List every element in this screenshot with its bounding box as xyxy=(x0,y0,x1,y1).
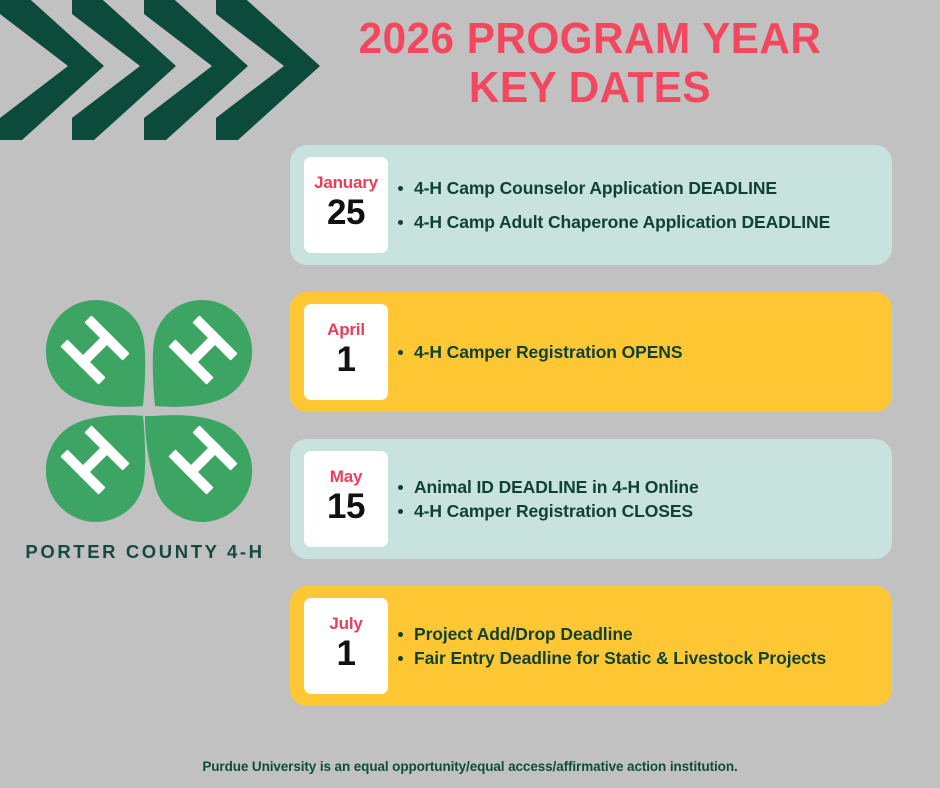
date-chip: January 25 xyxy=(304,157,388,253)
date-day: 1 xyxy=(337,636,356,673)
date-chip: April 1 xyxy=(304,304,388,400)
date-month: January xyxy=(314,174,378,193)
date-card: May 15 Animal ID DEADLINE in 4-H Online … xyxy=(290,439,892,559)
key-dates-card-list: January 25 4-H Camp Counselor Applicatio… xyxy=(290,145,892,733)
list-item: Project Add/Drop Deadline xyxy=(414,623,872,645)
page-title: 2026 PROGRAM YEAR KEY DATES xyxy=(312,14,869,113)
four-h-clover-icon xyxy=(27,288,272,528)
footer-disclaimer: Purdue University is an equal opportunit… xyxy=(0,759,940,774)
date-day: 15 xyxy=(327,489,365,526)
date-card: July 1 Project Add/Drop Deadline Fair En… xyxy=(290,586,892,706)
event-list: 4-H Camper Registration OPENS xyxy=(388,341,878,363)
date-month: July xyxy=(329,615,362,634)
date-month: May xyxy=(330,468,362,487)
trademark-notice: 18 USC 707 xyxy=(172,501,235,513)
list-item: Fair Entry Deadline for Static & Livesto… xyxy=(414,647,872,669)
list-item: 4-H Camp Adult Chaperone Application DEA… xyxy=(414,211,872,233)
event-list: Animal ID DEADLINE in 4-H Online 4-H Cam… xyxy=(388,476,878,523)
event-list: Project Add/Drop Deadline Fair Entry Dea… xyxy=(388,623,878,670)
date-chip: May 15 xyxy=(304,451,388,547)
organization-name: PORTER COUNTY 4-H xyxy=(20,541,270,563)
list-item: 4-H Camper Registration CLOSES xyxy=(414,500,872,522)
date-day: 1 xyxy=(337,342,356,379)
date-chip: July 1 xyxy=(304,598,388,694)
list-item: 4-H Camp Counselor Application DEADLINE xyxy=(414,177,872,199)
date-month: April xyxy=(327,321,365,340)
date-card: January 25 4-H Camp Counselor Applicatio… xyxy=(290,145,892,265)
date-card: April 1 4-H Camper Registration OPENS xyxy=(290,292,892,412)
page-title-line-1: 2026 PROGRAM YEAR xyxy=(312,14,869,63)
list-item: Animal ID DEADLINE in 4-H Online xyxy=(414,476,872,498)
list-item: 4-H Camper Registration OPENS xyxy=(414,341,872,363)
event-list: 4-H Camp Counselor Application DEADLINE … xyxy=(388,177,878,234)
chevron-decoration xyxy=(0,0,320,142)
page-title-line-2: KEY DATES xyxy=(312,63,869,112)
date-day: 25 xyxy=(327,195,365,232)
